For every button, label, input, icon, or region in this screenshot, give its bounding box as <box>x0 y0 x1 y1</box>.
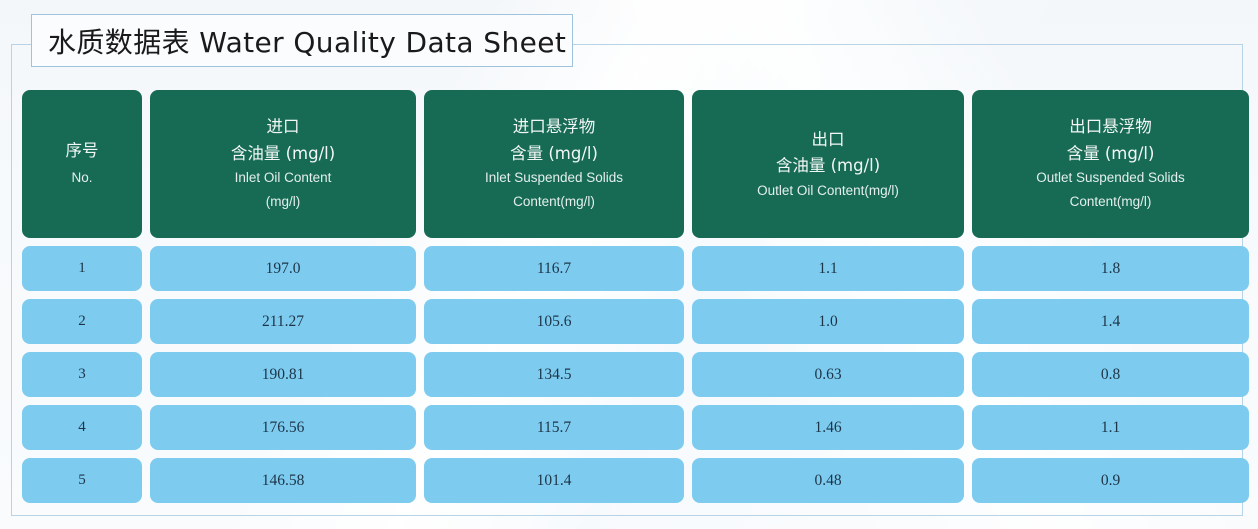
column-header-outlet-suspended-solids: 出口悬浮物 含量 (mg/l) Outlet Suspended Solids … <box>972 90 1249 238</box>
cell-no: 4 <box>22 405 142 450</box>
cell-outlet-oil: 1.1 <box>692 246 964 291</box>
cell-inlet-ss: 115.7 <box>424 405 684 450</box>
column-header-outlet-oil-zh2: 含油量 (mg/l) <box>776 153 880 180</box>
column-header-outlet-ss-en2: Content(mg/l) <box>1070 189 1152 215</box>
column-header-inlet-suspended-solids: 进口悬浮物 含量 (mg/l) Inlet Suspended Solids C… <box>424 90 684 238</box>
cell-inlet-ss: 101.4 <box>424 458 684 503</box>
column-header-inlet-oil: 进口 含油量 (mg/l) Inlet Oil Content (mg/l) <box>150 90 416 238</box>
column-header-inlet-oil-zh2: 含油量 (mg/l) <box>231 141 335 168</box>
column-header-outlet-oil-zh1: 出口 <box>812 127 845 154</box>
cell-inlet-oil: 190.81 <box>150 352 416 397</box>
cell-outlet-ss: 0.8 <box>972 352 1249 397</box>
column-header-inlet-ss-zh1: 进口悬浮物 <box>513 114 596 141</box>
cell-inlet-ss: 116.7 <box>424 246 684 291</box>
column-header-inlet-oil-en1: Inlet Oil Content <box>235 167 332 188</box>
cell-inlet-ss: 134.5 <box>424 352 684 397</box>
column-header-inlet-ss-en2: Content(mg/l) <box>513 189 595 215</box>
cell-outlet-oil: 0.48 <box>692 458 964 503</box>
cell-inlet-oil: 146.58 <box>150 458 416 503</box>
page-title: 水质数据表 Water Quality Data Sheet <box>48 21 566 61</box>
cell-no: 3 <box>22 352 142 397</box>
cell-inlet-oil: 211.27 <box>150 299 416 344</box>
column-header-outlet-oil-en1: Outlet Oil Content(mg/l) <box>757 180 899 201</box>
cell-no: 2 <box>22 299 142 344</box>
column-header-outlet-ss-en1: Outlet Suspended Solids <box>1036 167 1185 188</box>
cell-outlet-oil: 1.0 <box>692 299 964 344</box>
column-header-outlet-ss-zh1: 出口悬浮物 <box>1069 114 1152 141</box>
cell-outlet-ss: 0.9 <box>972 458 1249 503</box>
table-row: 2 211.27 105.6 1.0 1.4 <box>22 299 1233 344</box>
cell-outlet-oil: 1.46 <box>692 405 964 450</box>
column-header-no-en: No. <box>71 165 92 191</box>
cell-inlet-oil: 176.56 <box>150 405 416 450</box>
table-row: 4 176.56 115.7 1.46 1.1 <box>22 405 1233 450</box>
table-row: 1 197.0 116.7 1.1 1.8 <box>22 246 1233 291</box>
cell-outlet-oil: 0.63 <box>692 352 964 397</box>
table-row: 3 190.81 134.5 0.63 0.8 <box>22 352 1233 397</box>
cell-outlet-ss: 1.8 <box>972 246 1249 291</box>
cell-inlet-oil: 197.0 <box>150 246 416 291</box>
table-header-row: 序号 No. 进口 含油量 (mg/l) Inlet Oil Content (… <box>22 90 1233 238</box>
cell-no: 5 <box>22 458 142 503</box>
column-header-inlet-oil-en2: (mg/l) <box>266 189 301 215</box>
table-row: 5 146.58 101.4 0.48 0.9 <box>22 458 1233 503</box>
column-header-outlet-oil: 出口 含油量 (mg/l) Outlet Oil Content(mg/l) <box>692 90 964 238</box>
title-box: 水质数据表 Water Quality Data Sheet <box>31 14 573 67</box>
column-header-no: 序号 No. <box>22 90 142 238</box>
column-header-outlet-ss-zh2: 含量 (mg/l) <box>1067 141 1155 168</box>
cell-outlet-ss: 1.4 <box>972 299 1249 344</box>
column-header-inlet-ss-zh2: 含量 (mg/l) <box>510 141 598 168</box>
cell-no: 1 <box>22 246 142 291</box>
column-header-no-zh: 序号 <box>66 138 99 165</box>
column-header-inlet-ss-en1: Inlet Suspended Solids <box>485 167 623 188</box>
water-quality-table: 序号 No. 进口 含油量 (mg/l) Inlet Oil Content (… <box>22 90 1233 503</box>
column-header-inlet-oil-zh1: 进口 <box>267 114 300 141</box>
cell-outlet-ss: 1.1 <box>972 405 1249 450</box>
cell-inlet-ss: 105.6 <box>424 299 684 344</box>
